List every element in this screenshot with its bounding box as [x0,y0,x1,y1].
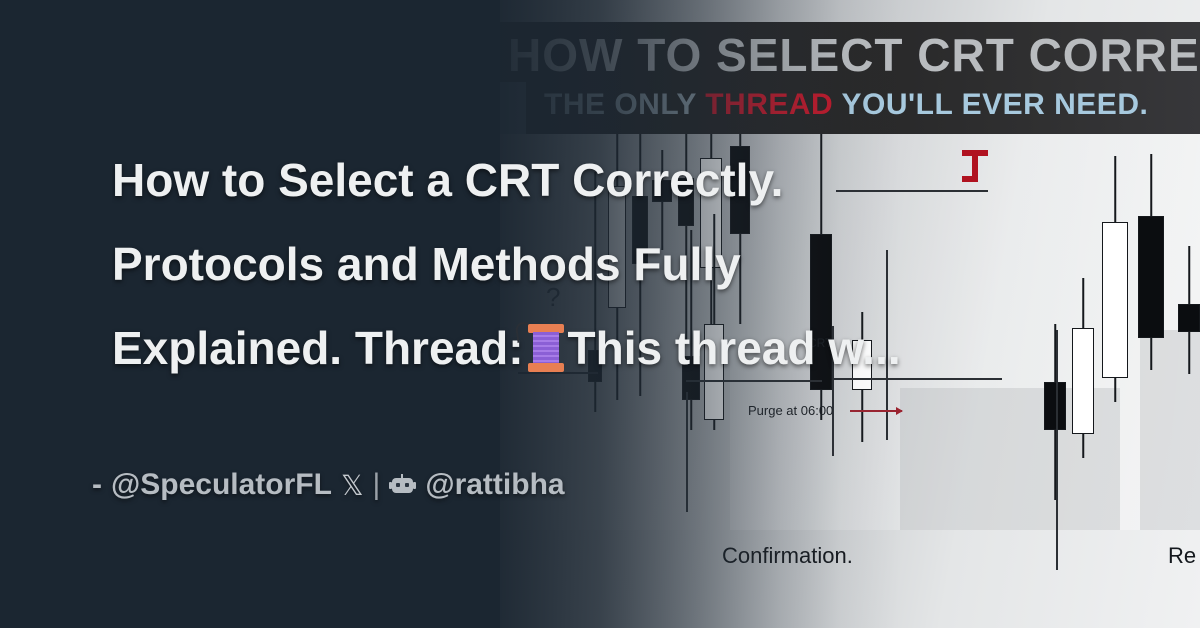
attribution: - @SpeculatorFL 𝕏 | @rattibha [92,468,565,502]
separator: | [373,468,381,502]
author-handle[interactable]: @SpeculatorFL [111,468,332,502]
spool-cap-bottom [528,363,564,372]
page-title: How to Select a CRT Correctly. Protocols… [112,138,1152,390]
thread-spool-emoji [528,322,564,374]
title-line-3: Explained. Thread:This thread w... [112,306,1152,390]
title-line-2: Protocols and Methods Fully [112,222,1152,306]
robot-eye-left [396,483,400,487]
share-card: ? Purge at 06:00 CRT Confirmation. Re HO… [0,0,1200,628]
attribution-dash: - [92,468,102,502]
robot-icon [389,474,416,496]
spool-barrel [533,332,559,364]
x-logo-icon: 𝕏 [341,469,364,502]
robot-eye-right [405,483,409,487]
robot-ear-right [413,482,416,489]
title-line-3-prefix: Explained. Thread: [112,322,524,374]
title-line-1: How to Select a CRT Correctly. [112,138,1152,222]
title-line-3-suffix: This thread w... [568,322,901,374]
site-handle[interactable]: @rattibha [425,468,564,502]
